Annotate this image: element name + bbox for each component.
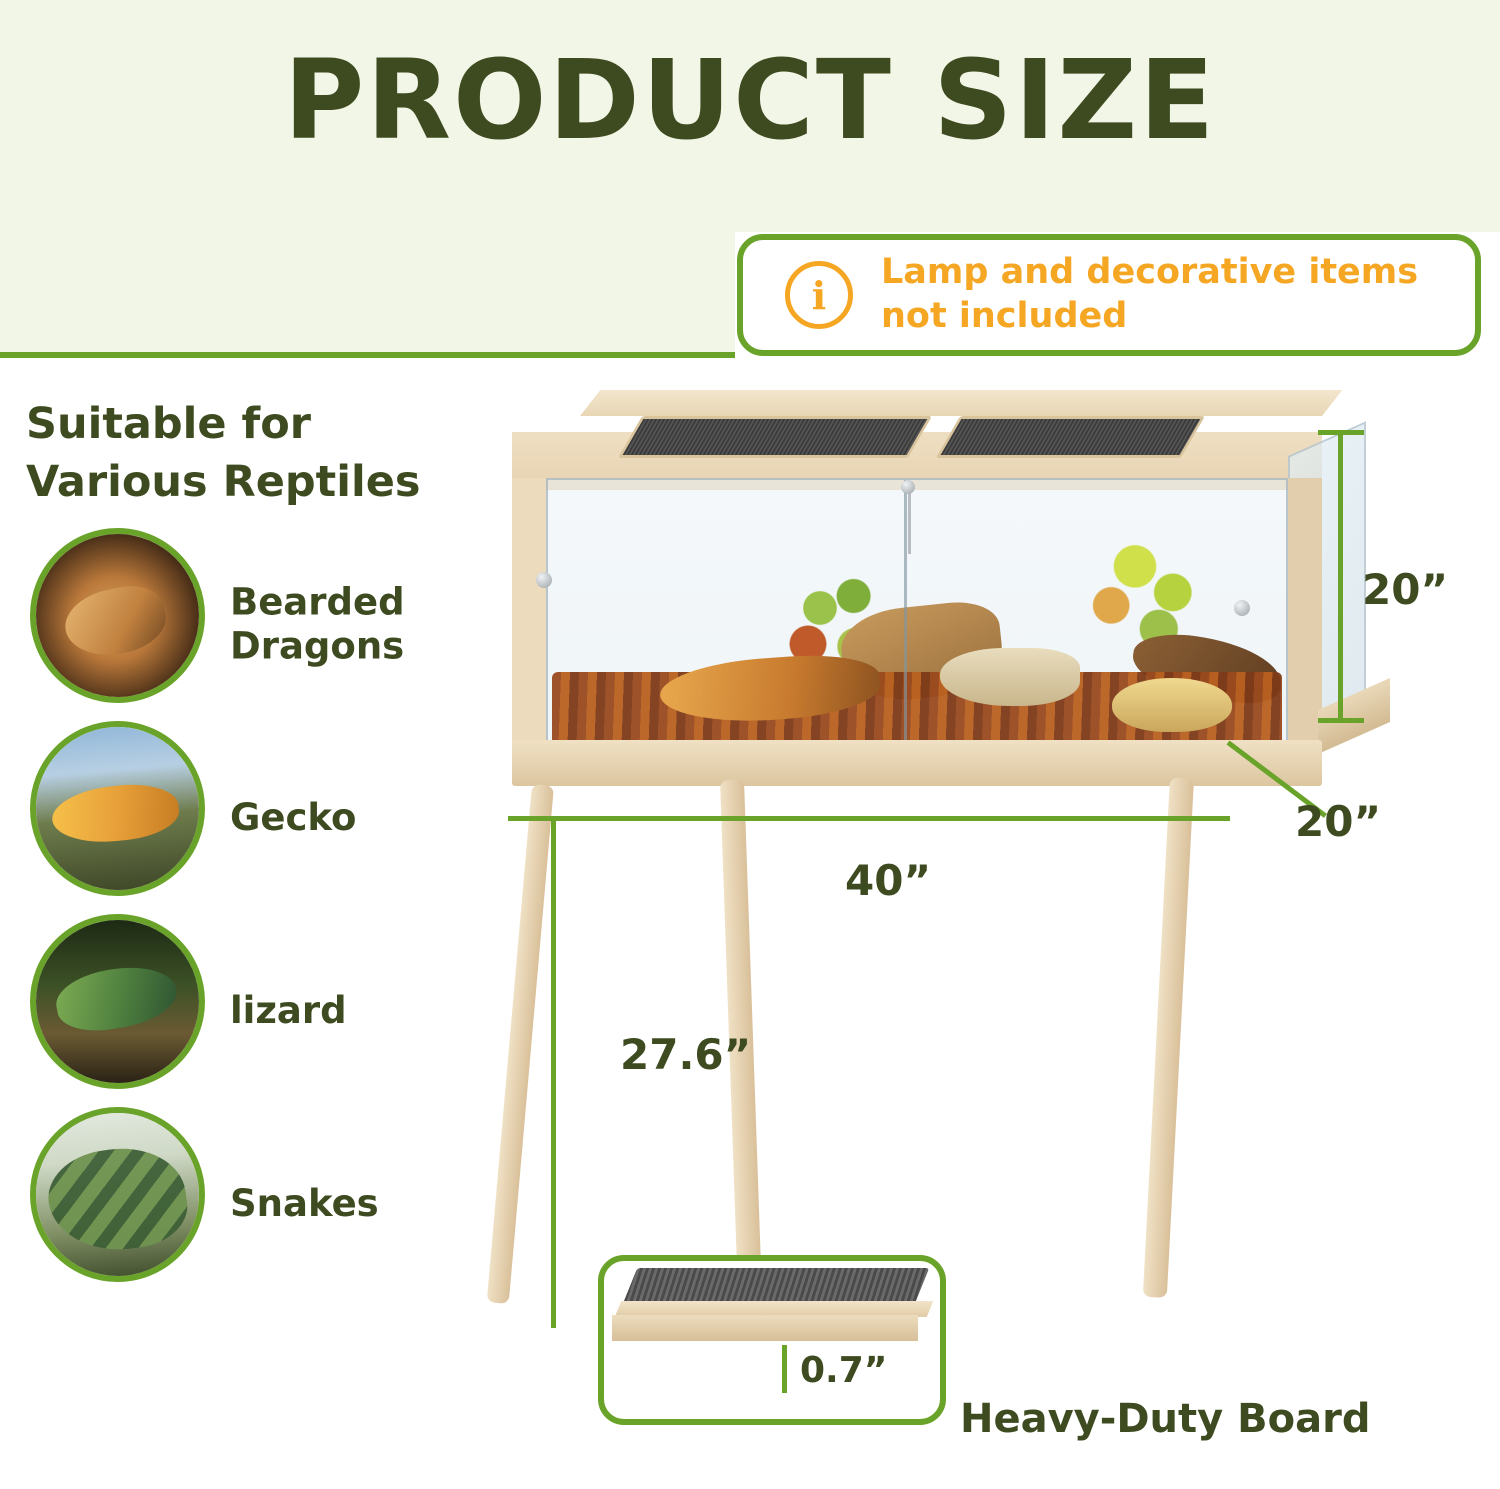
- list-item-label: Snakes: [230, 1181, 480, 1225]
- decor-food-bowl: [1112, 678, 1232, 732]
- door-handle-right[interactable]: [1234, 600, 1250, 616]
- heading-line-2: Various Reptiles: [26, 453, 466, 511]
- terrarium-enclosure: [512, 410, 1322, 815]
- heavy-duty-board-label: Heavy-Duty Board: [960, 1396, 1370, 1442]
- list-item: lizard: [30, 914, 480, 1107]
- lizard-thumbnail: [30, 914, 205, 1089]
- mesh-vent-left: [618, 416, 932, 458]
- info-icon: i: [785, 261, 853, 329]
- mesh-vent-right: [936, 416, 1205, 458]
- height-tick-top: [1318, 430, 1364, 435]
- height-dimension-line: [1338, 432, 1343, 722]
- stand-height-dimension-line: [551, 820, 556, 1328]
- list-item-label: Bearded Dragons: [230, 580, 480, 669]
- stand-leg-front-left: [487, 784, 554, 1304]
- page-title: PRODUCT SIZE: [0, 40, 1500, 161]
- door-top-knob[interactable]: [901, 480, 915, 494]
- list-item-label: Gecko: [230, 795, 480, 839]
- heading-line-1: Suitable for: [26, 395, 466, 453]
- suitable-for-heading: Suitable for Various Reptiles: [26, 395, 466, 511]
- board-mesh-surface: [623, 1268, 930, 1304]
- depth-label: 20”: [1295, 797, 1381, 846]
- door-rod: [908, 490, 911, 554]
- gecko-thumbnail: [30, 721, 205, 896]
- height-tick-bottom: [1318, 718, 1364, 723]
- list-item-label: lizard: [230, 988, 480, 1032]
- callout-text: Lamp and decorative items not included: [881, 251, 1475, 339]
- width-label: 40”: [845, 856, 931, 905]
- height-label: 20”: [1362, 565, 1448, 614]
- bearded-dragon-thumbnail: [30, 528, 205, 703]
- stand-leg-back-right: [1143, 777, 1194, 1298]
- decor-skull: [940, 648, 1080, 706]
- lamp-not-included-callout: i Lamp and decorative items not included: [737, 234, 1481, 356]
- snake-thumbnail: [30, 1107, 205, 1282]
- list-item: Snakes: [30, 1107, 480, 1300]
- base-board: [512, 740, 1322, 786]
- board-thickness-label: 0.7”: [800, 1350, 887, 1391]
- board-illustration: [612, 1268, 932, 1360]
- enclosure-top-back-panel: [580, 390, 1342, 416]
- list-item: Gecko: [30, 721, 480, 914]
- sliding-door-seam[interactable]: [904, 480, 907, 758]
- board-wood-front: [612, 1315, 918, 1341]
- width-dimension-line: [508, 816, 1230, 821]
- board-thickness-line: [782, 1345, 787, 1393]
- reptile-list: Bearded Dragons Gecko lizard Snakes: [30, 528, 480, 1300]
- stand-height-label: 27.6”: [620, 1030, 751, 1079]
- list-item: Bearded Dragons: [30, 528, 480, 721]
- door-handle-left[interactable]: [536, 572, 552, 588]
